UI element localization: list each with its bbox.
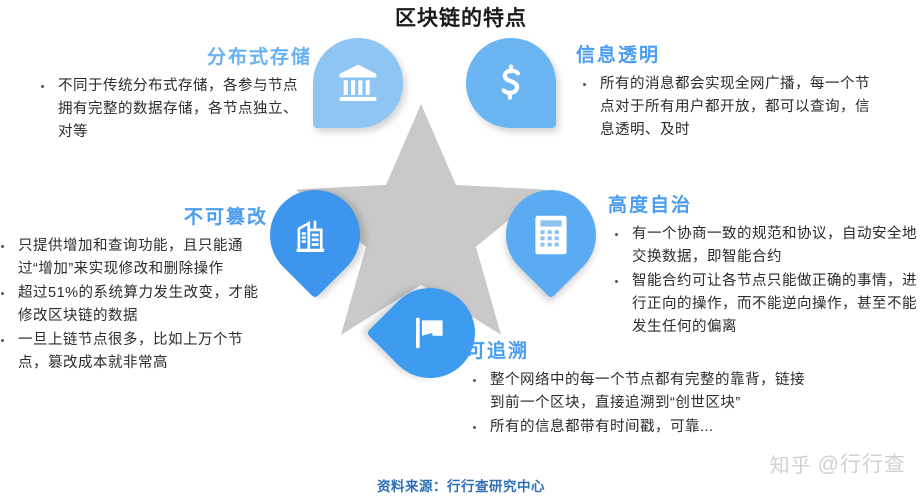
infographic-page: 区块链的特点 [0,0,922,500]
list-item: 智能合约可让各节点只能做正确的事情，进行正向的操作，而不能逆向操作，甚至不能发生… [608,270,922,339]
bullet-list-information-transparency: 所有的消息都会实现全网广播，每一个节点对于所有用户都开放，都可以查询，信息透明、… [576,73,876,142]
pin-information-transparency[interactable] [466,38,556,128]
section-heading-traceable: 可追溯 [466,342,806,363]
section-heading-information-transparency: 信息透明 [576,46,876,67]
flag-icon [400,303,459,362]
section-immutable: 不可篡改 只提供增加和查询功能，且只能通过“增加”来实现修改和删除操作 超过51… [0,208,268,376]
bullet-list-immutable: 只提供增加和查询功能，且只能通过“增加”来实现修改和删除操作 超过51%的系统算… [0,235,268,375]
list-item: 不同于传统分布式存储，各参与节点拥有完整的数据存储，各节点独立、对等 [34,75,312,144]
source-footer: 资料来源：行行查研究中心 [0,475,922,495]
section-heading-high-autonomy: 高度自治 [608,196,922,217]
bullet-list-traceable: 整个网络中的每一个节点都有完整的靠背，链接到前一个区块，直接追溯到“创世区块” … [466,369,806,439]
bullet-list-distributed-storage: 不同于传统分布式存储，各参与节点拥有完整的数据存储，各节点独立、对等 [34,75,312,144]
list-item: 只提供增加和查询功能，且只能通过“增加”来实现修改和删除操作 [0,235,268,281]
buildings-icon [284,204,346,266]
section-traceable: 可追溯 整个网络中的每一个节点都有完整的靠背，链接到前一个区块，直接追溯到“创世… [466,342,806,440]
section-distributed-storage: 分布式存储 不同于传统分布式存储，各参与节点拥有完整的数据存储，各节点独立、对等 [34,48,312,145]
watermark-handle: @行行查 [818,448,906,478]
watermark: 知乎 @行行查 [770,448,906,478]
list-item: 所有的消息都会实现全网广播，每一个节点对于所有用户都开放，都可以查询，信息透明、… [576,73,876,142]
currency-dollar-icon [490,62,532,104]
watermark-platform: 知乎 [770,449,812,478]
list-item: 一旦上链节点很多，比如上万个节点，篡改成本就非常高 [0,329,268,375]
list-item: 所有的信息都带有时间戳，可靠... [466,416,806,439]
section-heading-immutable: 不可篡改 [0,208,268,229]
bullet-list-high-autonomy: 有一个协商一致的规范和协议，自动安全地交换数据，即智能合约 智能合约可让各节点只… [608,223,922,339]
calculator-icon [522,206,580,264]
section-information-transparency: 信息透明 所有的消息都会实现全网广播，每一个节点对于所有用户都开放，都可以查询，… [576,46,876,143]
section-high-autonomy: 高度自治 有一个协商一致的规范和协议，自动安全地交换数据，即智能合约 智能合约可… [608,196,922,340]
bank-icon [336,61,380,105]
list-item: 超过51%的系统算力发生改变，才能修改区块链的数据 [0,282,268,328]
list-item: 有一个协商一致的规范和协议，自动安全地交换数据，即智能合约 [608,223,922,269]
section-heading-distributed-storage: 分布式存储 [34,48,312,69]
list-item: 整个网络中的每一个节点都有完整的靠背，链接到前一个区块，直接追溯到“创世区块” [466,369,806,415]
page-title: 区块链的特点 [0,2,922,32]
pin-distributed-storage[interactable] [313,38,403,128]
